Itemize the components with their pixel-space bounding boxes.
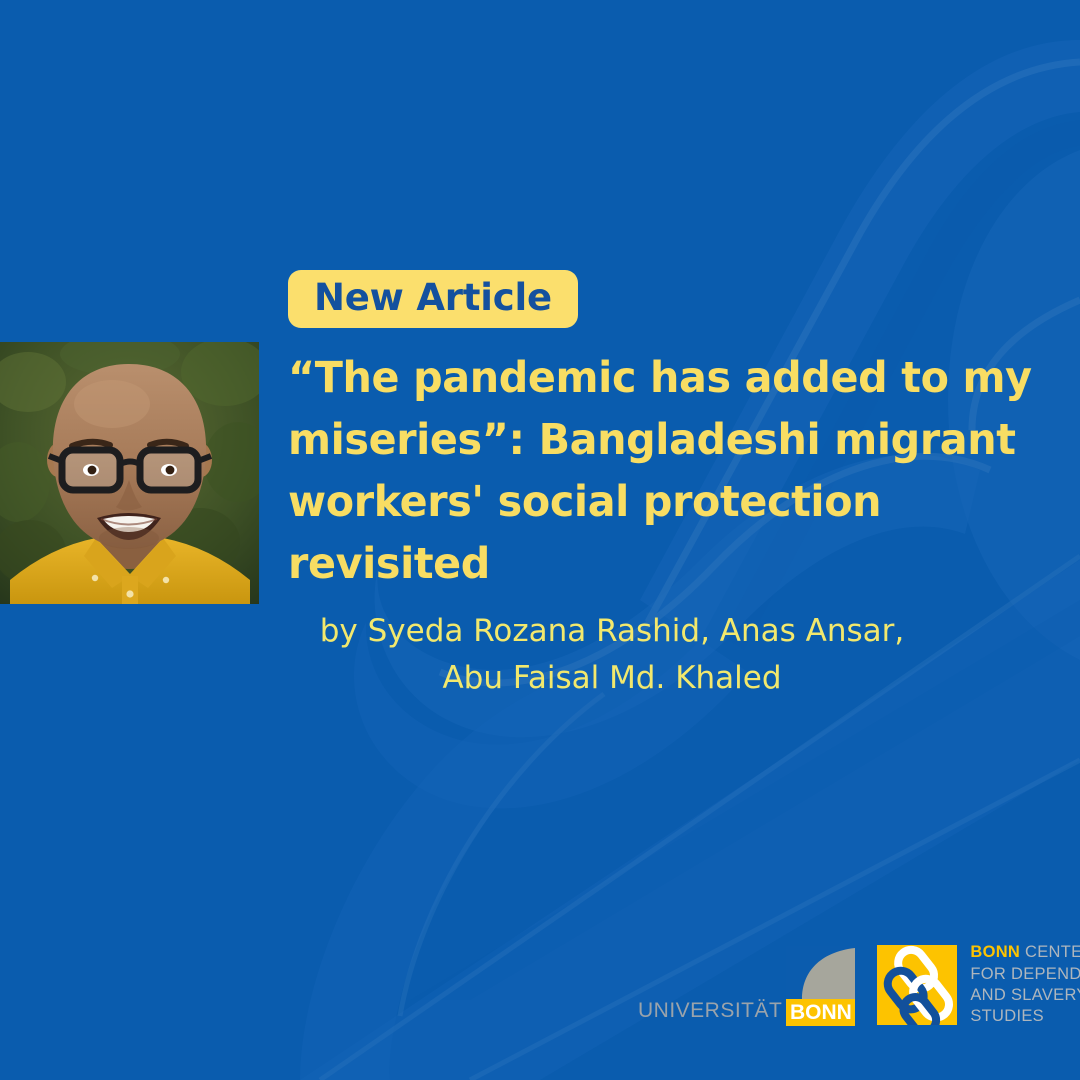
social-card: New Article “The pandemic has added to m… [0,0,1080,1080]
chain-link-icon [877,945,957,1025]
bcdss-line-1: BONN CENTER [970,942,1080,963]
bcdss-bonn-highlight: BONN [970,943,1020,961]
university-bonn-mark: BONN [786,946,855,1026]
portrait-illustration [0,342,259,604]
bcdss-line-2: FOR DEPENDENCY [970,964,1080,985]
author-portrait-photo [0,342,259,604]
new-article-badge: New Article [288,270,578,328]
authors-line-1: by Syeda Rozana Rashid, Anas Ansar, [320,613,905,649]
bcdss-line-4: STUDIES [970,1006,1080,1027]
title-line-1: “The pandemic has added to my [288,348,1046,410]
university-bonn-logo: UNIVERSITÄT BONN [638,946,855,1026]
logo-bar: UNIVERSITÄT BONN [638,934,1068,1026]
authors-line-2: Abu Faisal Md. Khaled [292,655,932,702]
title-line-2: miseries”: Bangladeshi migrant [288,410,1046,472]
bcdss-logo: BONN CENTER FOR DEPENDENCY AND SLAVERY S… [877,944,1080,1026]
bcdss-line-3: AND SLAVERY [970,985,1080,1006]
university-bonn-bar: BONN [786,999,855,1026]
article-content: New Article “The pandemic has added to m… [288,270,1078,702]
title-line-3: workers' social protection revisited [288,472,1046,596]
bcdss-center-word: CENTER [1020,943,1080,961]
bcdss-wordmark: BONN CENTER FOR DEPENDENCY AND SLAVERY S… [970,942,1080,1028]
article-authors: by Syeda Rozana Rashid, Anas Ansar, Abu … [292,608,932,702]
article-title: “The pandemic has added to my miseries”:… [288,348,1046,596]
university-swoosh-icon [786,946,855,999]
university-wordmark: UNIVERSITÄT [638,999,782,1026]
